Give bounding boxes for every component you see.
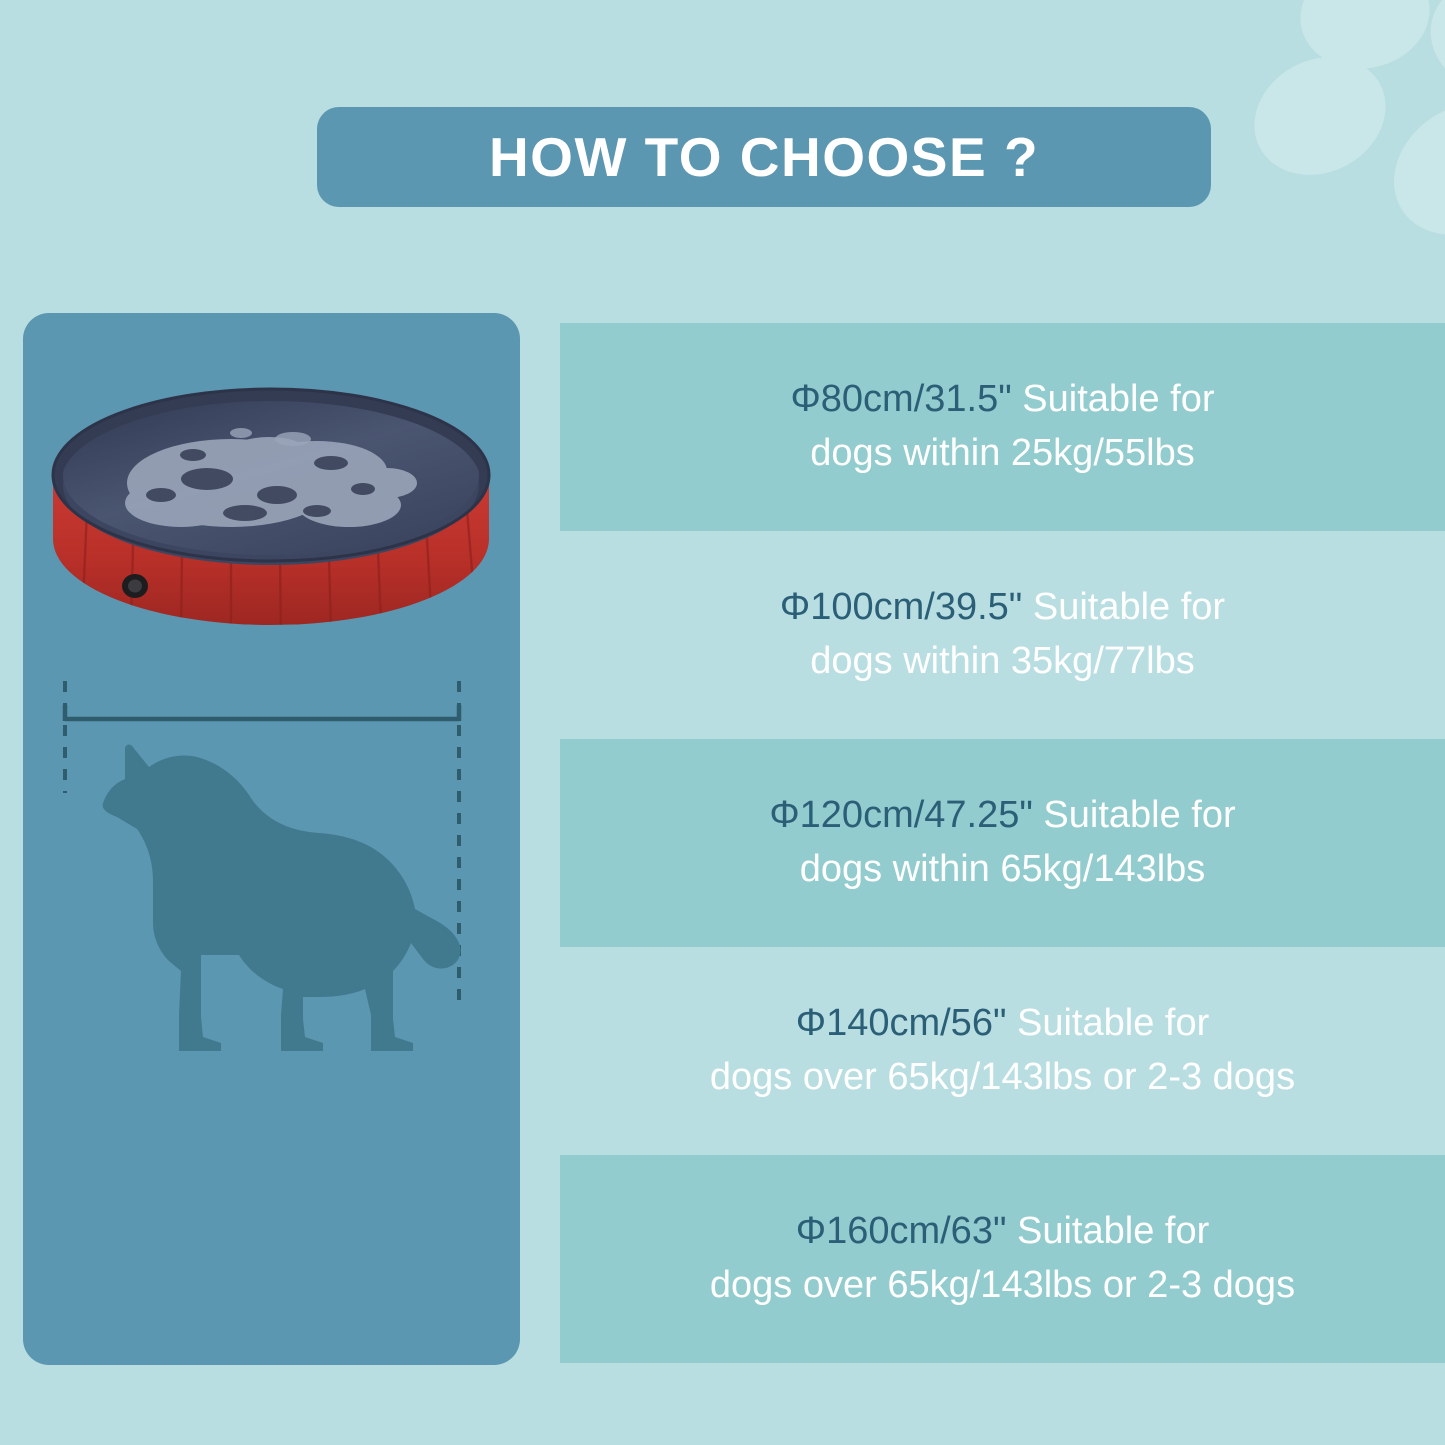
size-row: Φ160cm/63" Suitable for dogs over 65kg/1… [560, 1155, 1445, 1363]
size-row: Φ100cm/39.5" Suitable for dogs within 35… [560, 531, 1445, 739]
size-spec: Φ160cm/63" [796, 1210, 1007, 1252]
size-suffix: Suitable for [1012, 378, 1215, 420]
size-row-line-2: dogs over 65kg/143lbs or 2-3 dogs [710, 1051, 1295, 1105]
size-suffix: Suitable for [1006, 1002, 1209, 1044]
size-guide-rows: Φ80cm/31.5" Suitable for dogs within 25k… [0, 0, 1445, 1445]
size-suffix: Suitable for [1006, 1210, 1209, 1252]
size-row-line-1: Φ160cm/63" Suitable for [796, 1205, 1210, 1259]
size-row: Φ120cm/47.25" Suitable for dogs within 6… [560, 739, 1445, 947]
size-row: Φ140cm/56" Suitable for dogs over 65kg/1… [560, 947, 1445, 1155]
size-spec: Φ100cm/39.5" [780, 586, 1022, 628]
size-spec: Φ140cm/56" [796, 1002, 1007, 1044]
size-row-line-2: dogs within 35kg/77lbs [810, 635, 1194, 689]
size-row-line-2: dogs within 65kg/143lbs [800, 843, 1206, 897]
size-row-line-2: dogs over 65kg/143lbs or 2-3 dogs [710, 1259, 1295, 1313]
size-row-line-2: dogs within 25kg/55lbs [810, 427, 1194, 481]
size-row-line-1: Φ140cm/56" Suitable for [796, 997, 1210, 1051]
size-row-line-1: Φ100cm/39.5" Suitable for [780, 581, 1225, 635]
size-row: Φ80cm/31.5" Suitable for dogs within 25k… [560, 323, 1445, 531]
size-row-line-1: Φ120cm/47.25" Suitable for [769, 789, 1235, 843]
size-spec: Φ80cm/31.5" [790, 378, 1011, 420]
size-suffix: Suitable for [1033, 794, 1236, 836]
infographic-page: HOW TO CHOOSE ? [0, 0, 1445, 1445]
size-suffix: Suitable for [1022, 586, 1225, 628]
size-spec: Φ120cm/47.25" [769, 794, 1033, 836]
size-row-line-1: Φ80cm/31.5" Suitable for [790, 373, 1214, 427]
